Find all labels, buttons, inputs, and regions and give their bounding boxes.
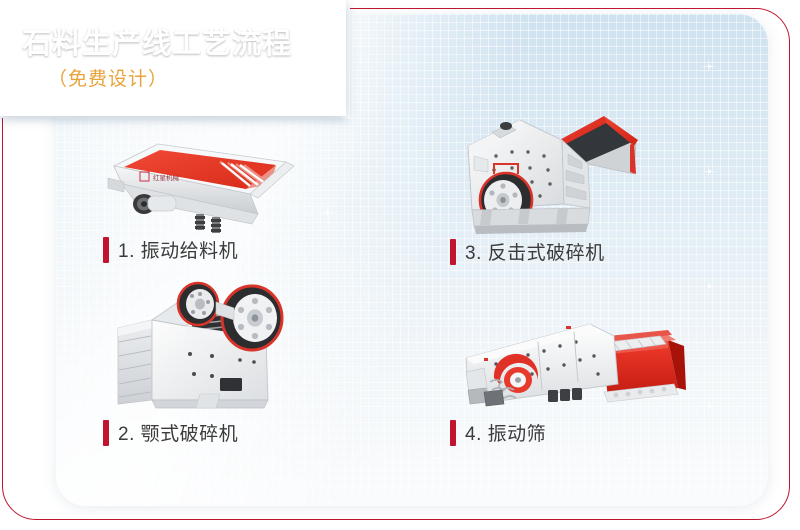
page-title: 石料生产线工艺流程 xyxy=(22,20,332,62)
label-marker-bar xyxy=(103,237,109,263)
label-item-3: 3. 反击式破碎机 xyxy=(450,238,605,265)
page-subtitle: （免费设计） xyxy=(48,64,168,91)
label-marker-bar xyxy=(450,239,456,265)
label-marker-bar xyxy=(450,420,456,446)
label-item-2-text: 2. 颚式破碎机 xyxy=(118,419,238,446)
label-item-4-text: 4. 振动筛 xyxy=(465,419,546,446)
label-item-2: 2. 颚式破碎机 xyxy=(103,419,238,446)
machine-impact-crusher xyxy=(458,112,644,236)
label-item-1-text: 1. 振动给料机 xyxy=(118,236,238,263)
machine-vibrating-screen xyxy=(462,302,690,416)
label-marker-bar xyxy=(103,420,109,446)
label-item-3-text: 3. 反击式破碎机 xyxy=(465,238,605,265)
machine-jaw-crusher xyxy=(116,282,330,410)
machine-vibrating-feeder: 红星机械 xyxy=(100,122,310,234)
label-item-4: 4. 振动筛 xyxy=(450,419,546,446)
label-item-1: 1. 振动给料机 xyxy=(103,236,238,263)
title-banner: 石料生产线工艺流程 （免费设计） xyxy=(0,0,346,116)
svg-text:红星机械: 红星机械 xyxy=(153,173,180,182)
promo-graphic: 红星机械 1. 振动给料机 xyxy=(0,0,800,530)
